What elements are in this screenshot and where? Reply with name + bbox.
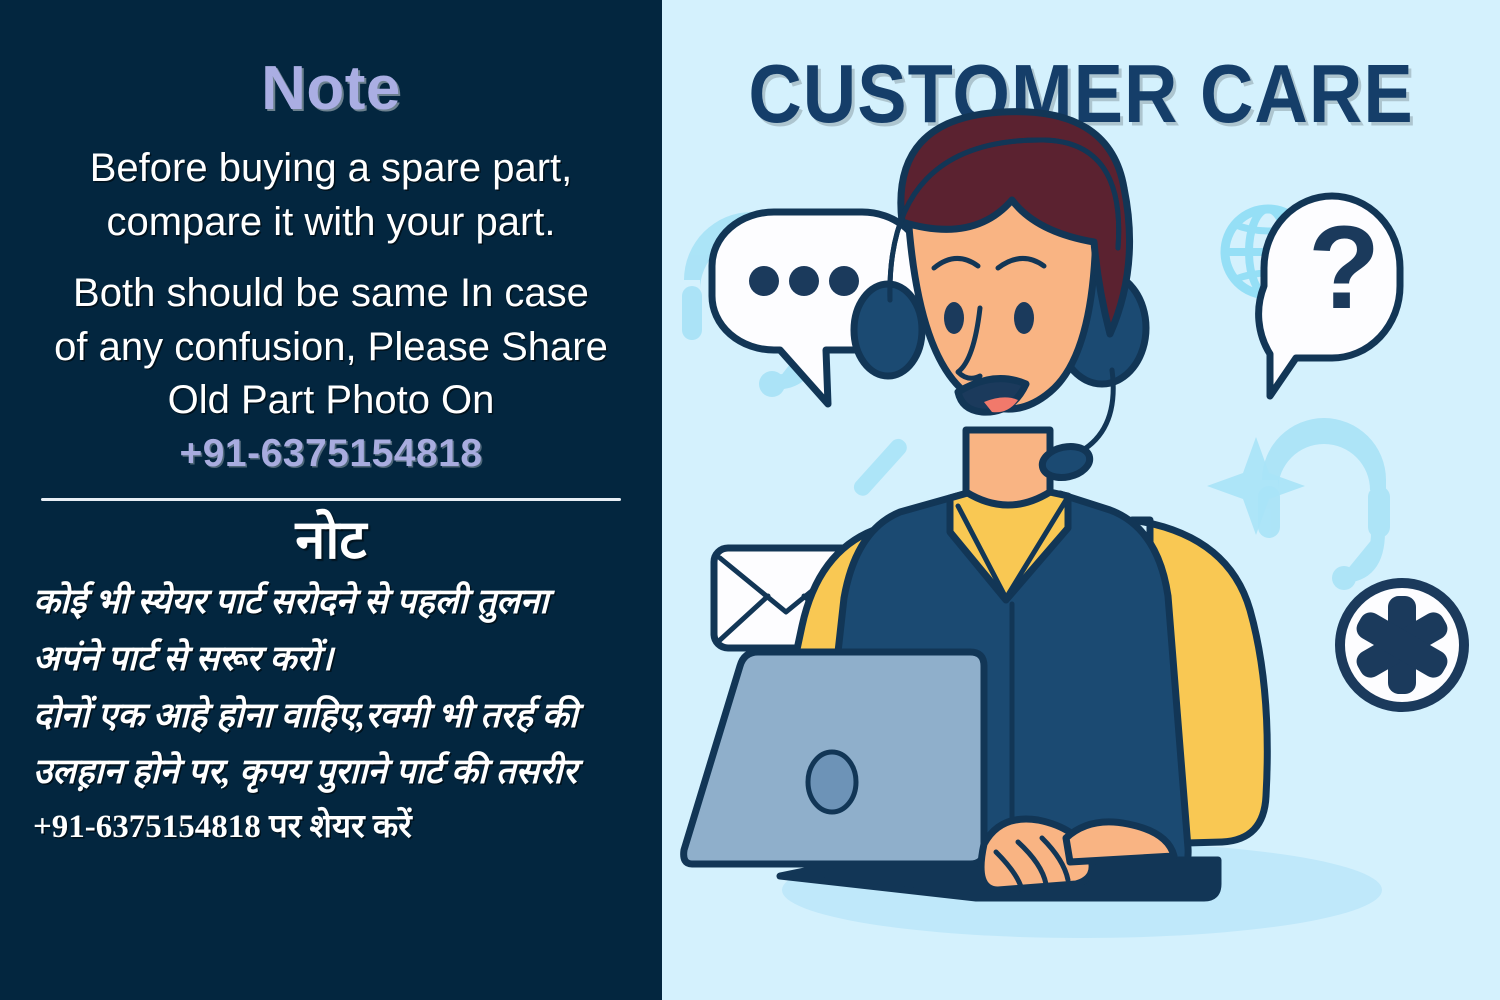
dash-accent-icon xyxy=(851,436,910,499)
hindi-body: कोई भी स्येयर पार्ट सरोदने से पहली तुलना… xyxy=(33,574,629,854)
hindi-line-2: अपंने पार्ट से सरूर करों। xyxy=(33,631,629,688)
svg-text:?: ? xyxy=(1308,202,1380,334)
hindi-line-1: कोई भी स्येयर पार्ट सरोदने से पहली तुलना xyxy=(33,574,629,631)
agent-head xyxy=(854,112,1146,482)
hindi-phone-line[interactable]: +91-6375154818 पर शेयर करें xyxy=(33,801,629,854)
hindi-line-3: दोनों एक आहे होना वाहिए,रवमी भी तरर्ह की xyxy=(33,688,629,745)
poster: Note Before buying a spare part, compare… xyxy=(0,0,1500,1000)
section-divider xyxy=(41,498,621,501)
phone-number-english[interactable]: +91-6375154818 xyxy=(179,432,482,476)
hindi-line-4: उलह़ान होने पर, कृपय पुरााने पार्ट की तस… xyxy=(33,744,629,801)
note-panel: Note Before buying a spare part, compare… xyxy=(0,0,662,1000)
question-bubble-icon: ? xyxy=(1259,196,1400,396)
note-heading: Note xyxy=(261,58,401,120)
hindi-heading: नोट xyxy=(295,511,366,570)
asterisk-badge-icon xyxy=(1340,583,1464,707)
customer-care-panel: CUSTOMER CARE .ol{stroke:#123656;stroke-… xyxy=(662,0,1500,1000)
headset-outline-icon-right xyxy=(1258,418,1390,590)
note-paragraph-2: Both should be same In case of any confu… xyxy=(51,267,611,428)
note-paragraph-1: Before buying a spare part, compare it w… xyxy=(51,142,611,249)
support-agent-illustration: .ol{stroke:#123656;stroke-width:7;stroke… xyxy=(662,0,1500,1000)
